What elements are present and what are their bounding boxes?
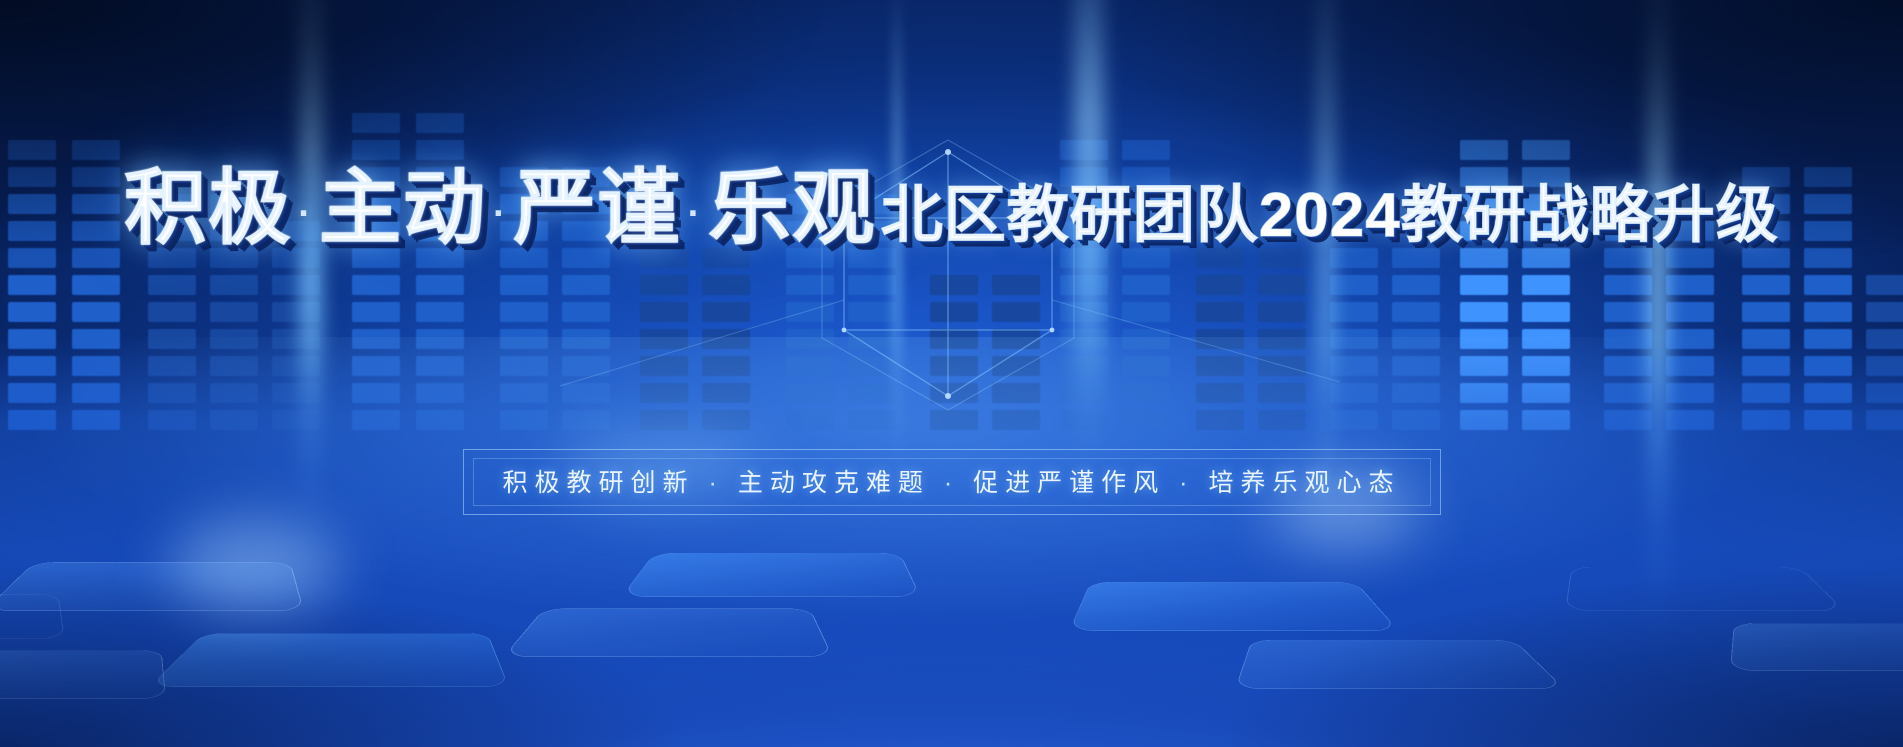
page-subtitle: 北区教研团队2024教研战略升级 <box>881 185 1779 247</box>
tagline-frame: 积极教研创新·主动攻克难题·促进严谨作风·培养乐观心态 <box>462 449 1440 515</box>
title-separator-dot: · <box>292 193 319 235</box>
tagline-text: 积极教研创新·主动攻克难题·促进严谨作风·培养乐观心态 <box>502 463 1400 499</box>
title-word: 主动 <box>319 163 487 254</box>
title-separator-dot: · <box>682 193 709 235</box>
title-separator-dot: · <box>487 193 514 235</box>
hexagon-wireframe-icon <box>0 0 1903 747</box>
tagline-item: 积极教研创新 <box>502 469 694 497</box>
banner-root: 积极·主动·严谨·乐观 北区教研团队2024教研战略升级 积极教研创新·主动攻克… <box>0 0 1903 747</box>
page-title: 积极·主动·严谨·乐观 <box>124 168 876 250</box>
tagline-separator-dot: · <box>1165 469 1208 497</box>
tagline-item: 主动攻克难题 <box>738 469 930 497</box>
title-word: 严谨 <box>514 163 682 254</box>
tagline-separator-dot: · <box>930 469 973 497</box>
tagline-separator-dot: · <box>694 469 737 497</box>
tagline-item: 培养乐观心态 <box>1209 469 1401 497</box>
title-word: 乐观 <box>708 163 876 254</box>
tagline-item: 促进严谨作风 <box>973 469 1165 497</box>
title-word: 积极 <box>124 163 292 254</box>
headline-group: 积极·主动·严谨·乐观 北区教研团队2024教研战略升级 <box>0 168 1903 250</box>
